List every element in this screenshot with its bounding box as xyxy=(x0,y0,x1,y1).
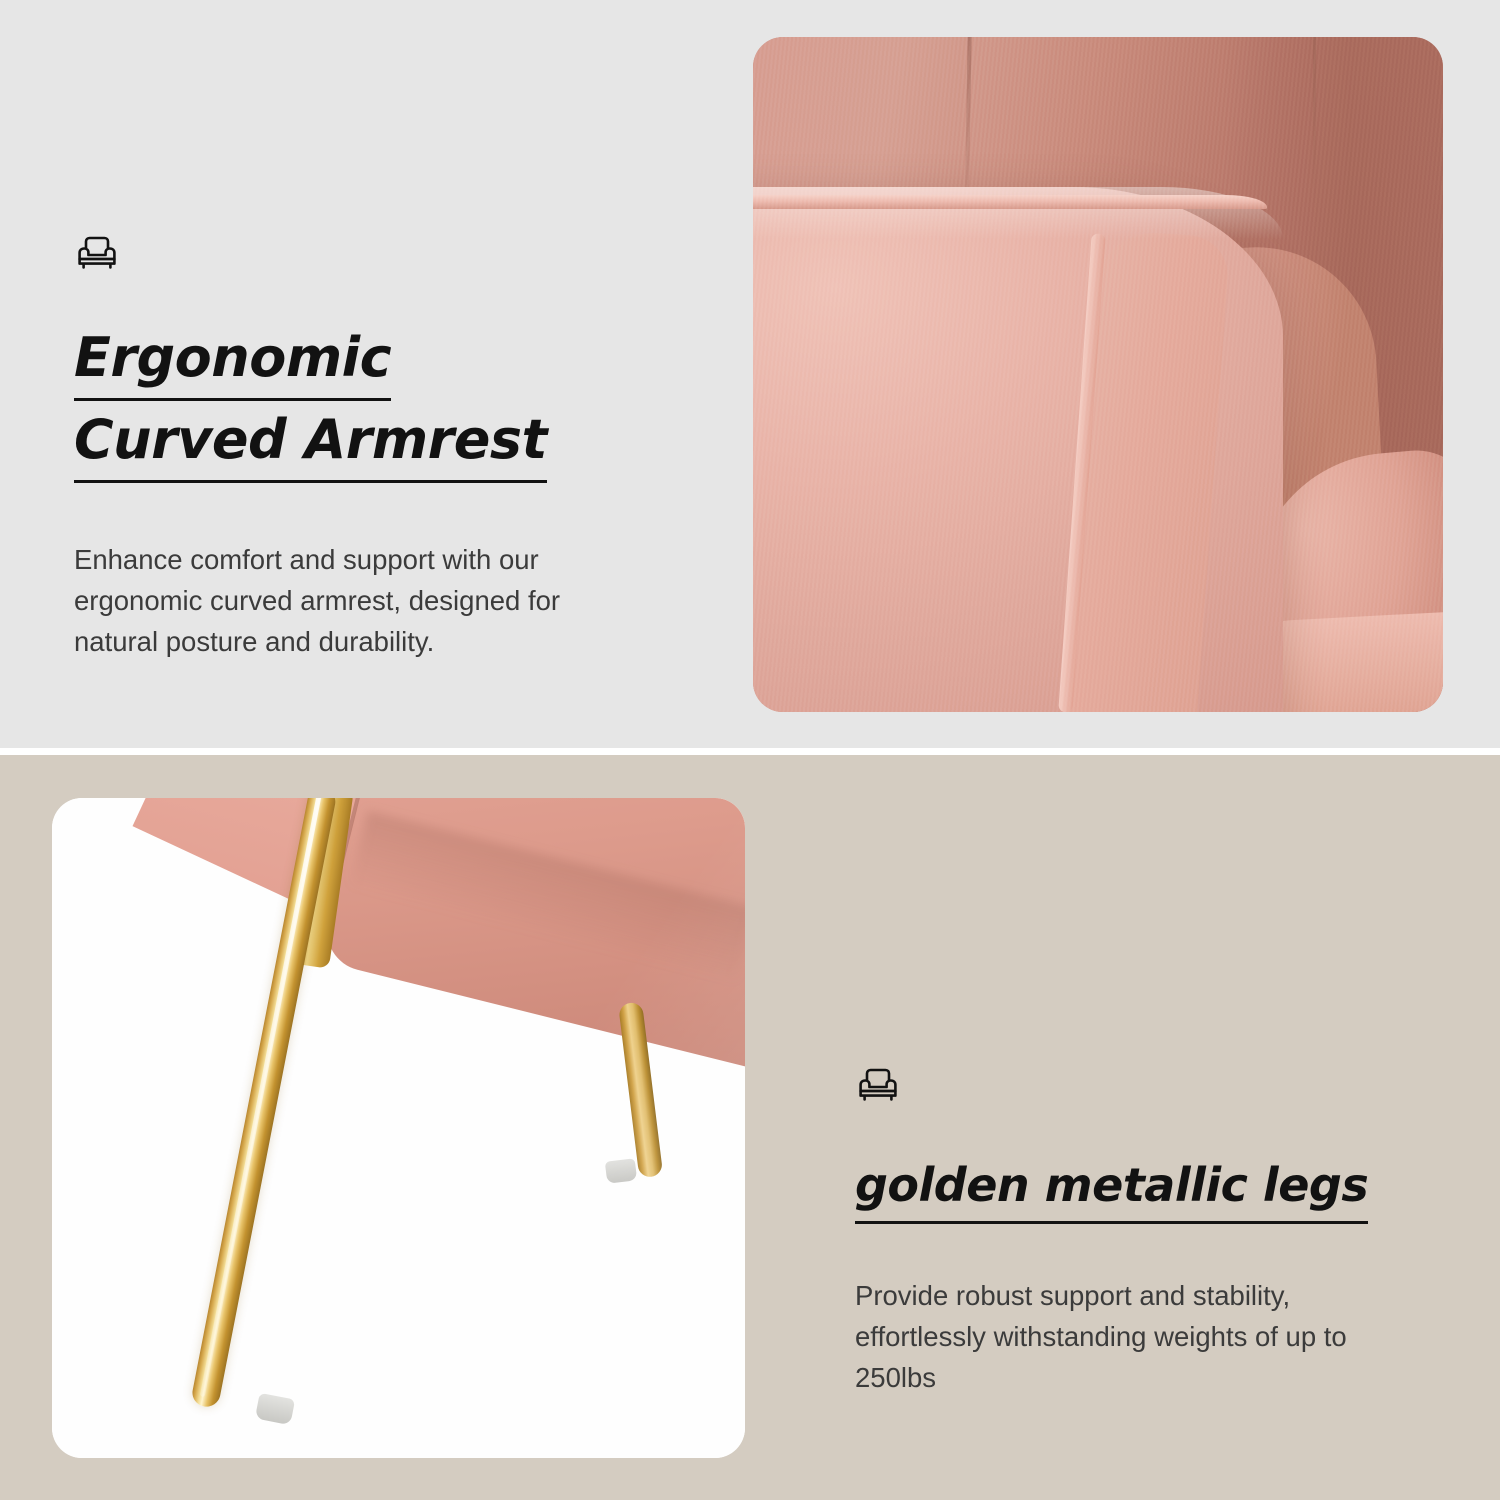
feature-section-armrest: Ergonomic Curved Armrest Enhance comfort… xyxy=(0,0,1500,748)
feature-heading-text: golden metallic legs xyxy=(855,1158,1368,1224)
feature-heading-legs: golden metallic legs xyxy=(855,1149,1415,1221)
feature-body-legs: Provide robust support and stability, ef… xyxy=(855,1275,1415,1398)
feature-heading-text: Ergonomic Curved Armrest xyxy=(74,326,547,483)
feature-image-armrest xyxy=(753,37,1443,712)
velvet-texture xyxy=(753,37,1443,712)
feature-text-block-legs: golden metallic legs Provide robust supp… xyxy=(745,857,1500,1398)
feature-image-legs xyxy=(52,798,745,1458)
photo-gloss-overlay xyxy=(52,798,745,1458)
feature-section-legs: golden metallic legs Provide robust supp… xyxy=(0,755,1500,1500)
armchair-icon xyxy=(74,233,120,273)
feature-text-block-armrest: Ergonomic Curved Armrest Enhance comfort… xyxy=(0,87,700,662)
product-feature-infographic: Ergonomic Curved Armrest Enhance comfort… xyxy=(0,0,1500,1500)
feature-heading-armrest: Ergonomic Curved Armrest xyxy=(74,317,594,481)
feature-body-armrest: Enhance comfort and support with our erg… xyxy=(74,539,614,662)
armchair-icon xyxy=(855,1065,901,1105)
